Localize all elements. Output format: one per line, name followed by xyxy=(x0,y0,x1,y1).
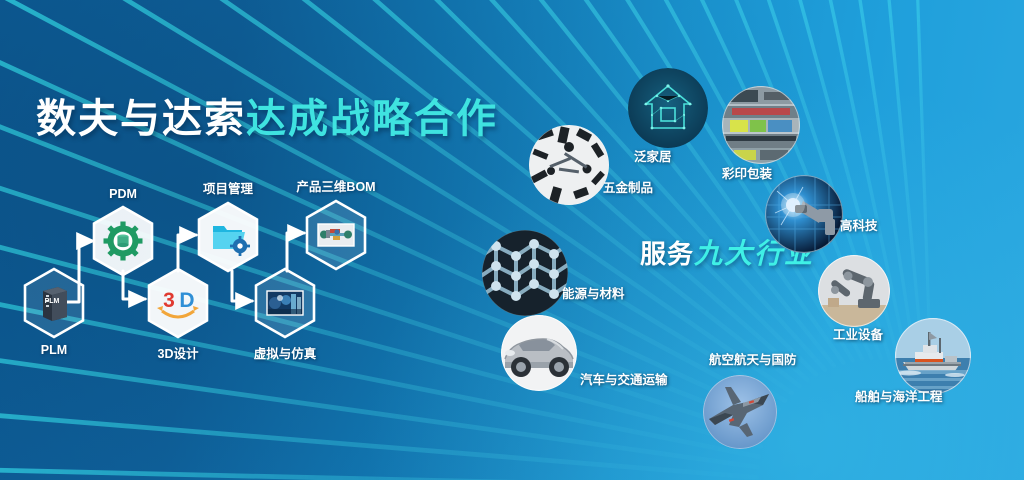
industry-label-aerospace: 航空航天与国防 xyxy=(709,349,797,368)
banner-stage: 数夫与达索达成战略合作 服务九大行业 xyxy=(0,0,1024,480)
industry-label-marine: 船舶与海洋工程 xyxy=(855,386,943,405)
naval-ship-icon xyxy=(895,318,971,394)
molecule-material-icon xyxy=(482,230,568,316)
svg-text:D: D xyxy=(179,289,194,312)
industry-circle-home[interactable] xyxy=(628,68,708,148)
flow-node-label-simulation: 虚拟与仿真 xyxy=(254,343,317,362)
title-company-part: 数夫与达索 xyxy=(36,97,246,141)
smart-home-icon xyxy=(628,68,708,148)
industry-label-equipment: 工业设备 xyxy=(833,324,883,343)
hightech-robot-icon xyxy=(765,175,843,253)
folder-gear-icon xyxy=(196,201,260,273)
flow-node-label-3d-design: 3D设计 xyxy=(158,343,199,362)
flow-node-plm[interactable]: PLM PLM xyxy=(22,267,86,339)
industry-circle-printing[interactable] xyxy=(722,86,800,164)
hardware-tools-icon xyxy=(529,125,609,205)
industry-label-automotive: 汽车与交通运输 xyxy=(580,369,668,388)
industry-label-home: 泛家居 xyxy=(634,146,672,165)
title-accent-part: 达成战略合作 xyxy=(246,97,498,141)
flow-node-label-plm: PLM xyxy=(41,343,67,357)
svg-text:PLM: PLM xyxy=(45,298,60,305)
flow-node-simulation[interactable]: 虚拟与仿真 xyxy=(253,267,317,339)
flow-node-3d-design[interactable]: 3 D 3D设计 xyxy=(146,267,210,339)
flow-node-label-3d-bom: 产品三维BOM xyxy=(296,176,375,195)
industry-label-hardware: 五金制品 xyxy=(603,177,653,196)
3d-cube-icon: 3 D xyxy=(146,267,210,339)
page-title: 数夫与达索达成战略合作 xyxy=(36,86,498,144)
svg-text:3: 3 xyxy=(163,289,175,312)
industry-label-hightech: 高科技 xyxy=(840,215,878,234)
flow-node-3d-bom[interactable]: 产品三维BOM xyxy=(304,199,368,271)
flow-node-label-pdm: PDM xyxy=(109,187,137,201)
car-icon xyxy=(501,315,577,391)
industry-circle-hardware[interactable] xyxy=(529,125,609,205)
industry-circle-hightech[interactable] xyxy=(765,175,843,253)
industry-label-printing: 彩印包装 xyxy=(722,163,772,182)
assembly-photo-icon xyxy=(304,199,368,271)
robot-arm-icon xyxy=(818,255,890,327)
industry-label-energy: 能源与材料 xyxy=(562,283,625,302)
industry-circle-equipment[interactable] xyxy=(818,255,890,327)
plm-flow-diagram: PLM PLM xyxy=(0,175,420,375)
industry-circle-marine[interactable] xyxy=(895,318,971,394)
industry-circle-energy[interactable] xyxy=(482,230,568,316)
fighter-jet-icon xyxy=(703,375,777,449)
simulation-photo-icon xyxy=(253,267,317,339)
flow-node-label-project-management: 项目管理 xyxy=(203,178,253,197)
industry-circle-automotive[interactable] xyxy=(501,315,577,391)
flow-node-project-management[interactable]: 项目管理 xyxy=(196,201,260,273)
industry-circle-aerospace[interactable] xyxy=(703,375,777,449)
slogan-white-part: 服务 xyxy=(640,239,694,269)
printing-press-icon xyxy=(722,86,800,164)
server-tower-icon: PLM xyxy=(22,267,86,339)
